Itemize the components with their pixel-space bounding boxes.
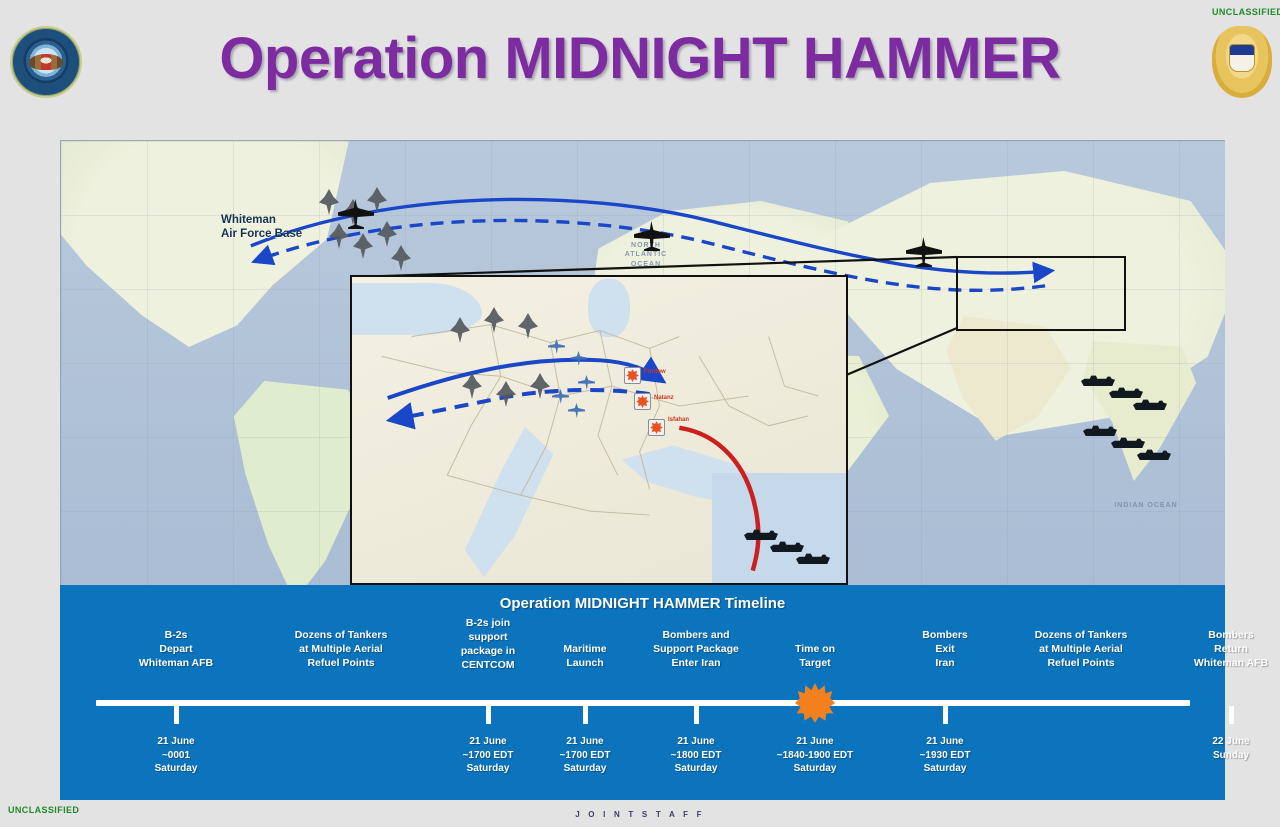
strike-target-marker — [648, 419, 665, 436]
timeline-label-line: Whiteman AFB — [101, 657, 251, 671]
timeline-label-line: Refuel Points — [986, 657, 1176, 671]
timeline-tick — [174, 706, 179, 724]
timeline-label-line: B-2s — [101, 629, 251, 643]
base-label-line: Air Force Base — [221, 227, 351, 241]
timeline-event-date: 21 June~1840-1900 EDTSaturday — [740, 735, 890, 776]
whiteman-afb-map-label: Whiteman Air Force Base — [221, 213, 351, 242]
strike-target-marker — [624, 367, 641, 384]
strike-target-marker — [634, 393, 651, 410]
maritime-strike-route — [679, 428, 758, 571]
timeline-event-date: 21 June~0001Saturday — [101, 735, 251, 776]
inset-region-rectangle — [956, 256, 1126, 331]
joint-chiefs-of-staff-seal-icon — [1212, 26, 1272, 98]
timeline-date-line: Saturday — [740, 762, 890, 776]
timeline-tick — [486, 706, 491, 724]
timeline-tick — [694, 706, 699, 724]
timeline-date-line: 21 June — [101, 735, 251, 749]
timeline-event-date: 22 JuneSunday — [1156, 735, 1280, 762]
timeline-event-label: Dozens of Tankersat Multiple AerialRefue… — [986, 629, 1176, 671]
timeline-label-line: Target — [740, 657, 890, 671]
timeline-label-line: Return — [1156, 643, 1280, 657]
timeline-event-date: 21 June~1930 EDTSaturday — [880, 735, 1010, 776]
timeline-label-line: Depart — [101, 643, 251, 657]
timeline-tick — [583, 706, 588, 724]
timeline-date-line: Saturday — [101, 762, 251, 776]
route-return-inset — [392, 390, 650, 420]
time-on-target-burst-icon — [795, 683, 835, 723]
timeline-label-line: Time on — [740, 643, 890, 657]
timeline-label-line: at Multiple Aerial — [246, 643, 436, 657]
timeline-label-line: Refuel Points — [246, 657, 436, 671]
timeline-event-label: BombersReturnWhiteman AFB — [1156, 629, 1280, 671]
timeline-date-line: 22 June — [1156, 735, 1280, 749]
strike-target-label: Isfahan — [668, 417, 689, 423]
timeline-axis — [96, 700, 1190, 706]
timeline-event-label: Time onTarget — [740, 643, 890, 671]
timeline-label-line: Bombers and — [611, 629, 781, 643]
timeline-panel: Operation MIDNIGHT HAMMER Timeline B-2sD… — [60, 585, 1225, 800]
timeline-label-line: Bombers — [1156, 629, 1280, 643]
timeline-date-line: ~0001 — [101, 749, 251, 763]
department-of-defense-seal-icon — [10, 26, 82, 98]
slide-canvas: UNCLASSIFIED UNCLASSIFIED Operation MIDN… — [0, 0, 1280, 827]
timeline-date-line: 21 June — [740, 735, 890, 749]
timeline-tick — [1229, 706, 1234, 724]
strike-target-label: Fordow — [644, 369, 666, 375]
footer-organization: J O I N T S T A F F — [0, 810, 1280, 819]
timeline-label-line: Whiteman AFB — [1156, 657, 1280, 671]
timeline-date-line: Saturday — [880, 762, 1010, 776]
base-label-line: Whiteman — [221, 213, 351, 227]
slide-title: Operation MIDNIGHT HAMMER — [120, 30, 1160, 88]
timeline-event-label: B-2sDepartWhiteman AFB — [101, 629, 251, 671]
timeline-label-line: at Multiple Aerial — [986, 643, 1176, 657]
timeline-tick — [943, 706, 948, 724]
middle-east-inset-map: Fordow Natanz Isfahan — [350, 275, 848, 585]
timeline-title: Operation MIDNIGHT HAMMER Timeline — [60, 595, 1225, 612]
timeline-label-line: B-2s join — [423, 617, 553, 631]
timeline-date-line: ~1840-1900 EDT — [740, 749, 890, 763]
timeline-event-label: Dozens of Tankersat Multiple AerialRefue… — [246, 629, 436, 671]
timeline-date-line: ~1930 EDT — [880, 749, 1010, 763]
strike-target-label: Natanz — [654, 395, 674, 401]
timeline-date-line: 21 June — [880, 735, 1010, 749]
timeline-label-line: Dozens of Tankers — [986, 629, 1176, 643]
timeline-date-line: Sunday — [1156, 749, 1280, 763]
classification-marking-top: UNCLASSIFIED — [1212, 7, 1280, 17]
timeline-label-line: Dozens of Tankers — [246, 629, 436, 643]
